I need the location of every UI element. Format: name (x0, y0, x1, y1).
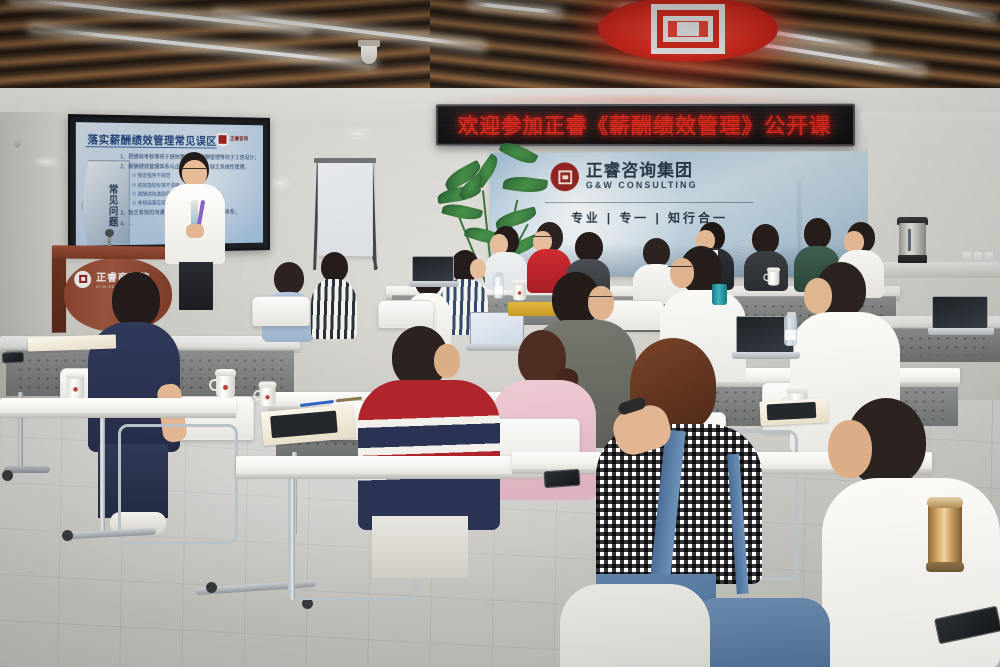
notebook[interactable] (759, 398, 828, 426)
attendee-striped-polo (358, 380, 500, 530)
recessed-downlight (268, 180, 290, 187)
backdrop-logo: 正睿咨询集团 G&W CONSULTING (551, 162, 698, 191)
glasses-icon (586, 296, 612, 301)
slide-corner-logo: 正睿咨询 (217, 131, 256, 147)
desk-caster (206, 582, 217, 593)
attendee-striped-woman (311, 252, 357, 338)
smartphone[interactable] (543, 469, 580, 488)
tea-mug[interactable] (513, 284, 526, 301)
presenter-hand (186, 224, 204, 238)
slide-title-underline (86, 146, 217, 148)
water-bottle[interactable] (493, 275, 503, 298)
attendee-front-edge (560, 584, 710, 667)
water-boiler-urn (897, 215, 928, 263)
presenter-face (182, 160, 207, 187)
tea-mug[interactable] (216, 374, 235, 398)
tea-mug[interactable] (67, 377, 84, 399)
thermos-flask[interactable] (928, 500, 962, 572)
glasses-icon (668, 266, 692, 270)
attendee-jeans-front (690, 598, 830, 667)
sprinkler-head (14, 137, 21, 148)
laptop[interactable] (412, 256, 456, 288)
desk-leg (100, 412, 105, 538)
chair-back[interactable] (252, 296, 310, 326)
slide-logo-mark-icon (217, 133, 229, 146)
slide-callout-text: 常见问题 (93, 184, 119, 228)
attendee-red-navy-stripe (358, 326, 504, 576)
attendee-shorts (372, 516, 468, 578)
laptop[interactable] (932, 296, 990, 336)
company-name-en: G&W CONSULTING (586, 181, 698, 191)
backdrop-divider (545, 202, 754, 203)
desk-front-left (0, 398, 236, 414)
presenter-trousers (179, 262, 213, 310)
company-name-cn: 正睿咨询集团 (586, 161, 693, 180)
recessed-downlight (346, 130, 368, 137)
tea-mug[interactable] (259, 386, 275, 406)
training-room-photo: 落实薪酬绩效管理常见误区 正睿咨询 常见问题 1、把绩效考核等同于绩效管理，把薪… (0, 0, 1000, 667)
glasses-icon (533, 236, 552, 240)
teal-travel-cup[interactable] (712, 284, 727, 305)
led-banner-text: 欢迎参加正睿《薪酬绩效管理》公开课 (458, 110, 831, 140)
glasses-icon (182, 168, 207, 172)
led-welcome-banner: 欢迎参加正睿《薪酬绩效管理》公开课 (436, 104, 855, 147)
smartphone[interactable] (2, 351, 25, 363)
attendee-light-top-woman (485, 226, 527, 288)
led-banner-glow (436, 97, 848, 102)
tea-mug[interactable] (768, 271, 780, 286)
paper-cup-stack (963, 252, 993, 262)
desk-caster (62, 530, 73, 541)
desk-leg (290, 474, 295, 600)
slide-logo-cn: 正睿咨询 (230, 136, 248, 142)
desk-caster (2, 470, 13, 481)
water-bottle[interactable] (784, 316, 797, 346)
chair-frame[interactable] (118, 424, 238, 544)
recessed-downlight (36, 158, 58, 165)
security-camera-icon (358, 40, 380, 66)
chair-back[interactable] (378, 300, 434, 328)
